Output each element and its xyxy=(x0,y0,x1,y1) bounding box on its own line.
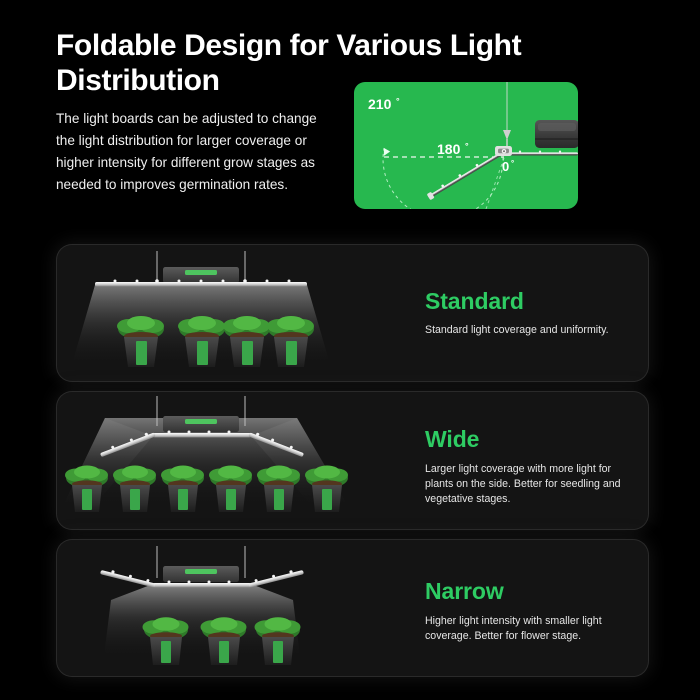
intro-paragraph: The light boards can be adjusted to chan… xyxy=(56,108,336,196)
driver-box xyxy=(163,566,239,582)
hinge-pivot xyxy=(495,146,512,156)
svg-text:0: 0 xyxy=(502,159,509,174)
plant-group xyxy=(143,617,301,665)
narrow-scene-illustration xyxy=(57,540,367,676)
mode-card-wide[interactable]: Wide Larger light coverage with more lig… xyxy=(57,392,648,529)
mode-card-standard[interactable]: Standard Standard light coverage and uni… xyxy=(57,245,648,381)
mode-card-narrow[interactable]: Narrow Higher light intensity with small… xyxy=(57,540,648,676)
angle-label-0: 0 ° xyxy=(502,159,514,174)
svg-text:°: ° xyxy=(465,141,469,151)
angle-label-180: 180 ° xyxy=(437,141,469,157)
driver-box xyxy=(163,416,239,432)
mode-title-wide: Wide xyxy=(425,428,479,451)
mode-description-narrow: Higher light intensity with smaller ligh… xyxy=(425,614,640,644)
standard-scene-illustration xyxy=(57,245,367,381)
light-board-flat xyxy=(504,151,578,156)
mode-title-standard: Standard xyxy=(425,290,524,313)
wide-scene-illustration xyxy=(57,392,367,529)
mode-description-standard: Standard light coverage and uniformity. xyxy=(425,323,609,338)
narrow-text-block: Narrow Higher light intensity with small… xyxy=(425,540,640,676)
standard-text-block: Standard Standard light coverage and uni… xyxy=(425,245,640,381)
wide-text-block: Wide Larger light coverage with more lig… xyxy=(425,392,640,529)
hanger-hook xyxy=(503,130,511,140)
svg-text:210: 210 xyxy=(368,96,392,112)
header-section: Foldable Design for Various Light Distri… xyxy=(0,0,700,230)
angle-diagram-graphic: 210 ° 180 ° 0 ° xyxy=(354,82,578,209)
angle-label-210: 210 ° xyxy=(368,96,400,112)
mode-description-wide: Larger light coverage with more light fo… xyxy=(425,462,640,507)
mode-title-narrow: Narrow xyxy=(425,580,504,603)
led-bar-left-tilted xyxy=(100,567,156,587)
led-bar-right-tilted xyxy=(248,567,304,587)
svg-text:°: ° xyxy=(396,96,400,106)
driver-box xyxy=(535,120,578,148)
svg-text:°: ° xyxy=(511,159,514,168)
svg-text:180: 180 xyxy=(437,141,461,157)
plant-group xyxy=(117,316,314,367)
angle-diagram-panel: 210 ° 180 ° 0 ° xyxy=(354,82,578,209)
led-bar-assembly xyxy=(95,279,307,286)
